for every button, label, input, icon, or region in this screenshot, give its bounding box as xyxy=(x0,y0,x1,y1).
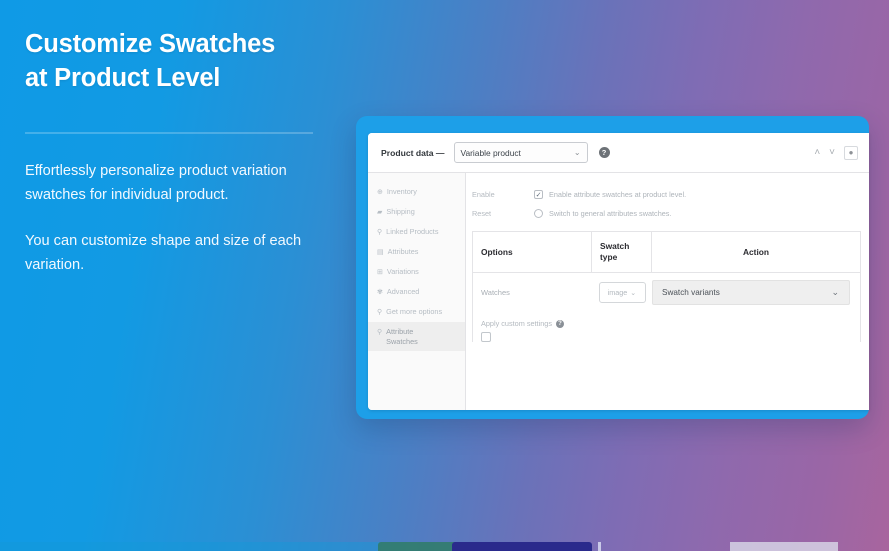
apply-custom-settings-block: Apply custom settings ? xyxy=(473,312,860,342)
inventory-icon: ⊕ xyxy=(377,188,383,197)
cell-action: Swatch variants ⌄ xyxy=(652,280,860,305)
swatch-type-value: image xyxy=(608,288,628,297)
divider xyxy=(25,132,313,134)
swatch-variants-button[interactable]: Swatch variants ⌄ xyxy=(652,280,850,305)
option-label: Reset xyxy=(472,209,534,218)
swatch-variants-label: Swatch variants xyxy=(662,288,720,297)
variations-icon: ⊞ xyxy=(377,268,383,277)
chevron-up-icon[interactable]: ˄ xyxy=(814,148,820,158)
screenshot-frame: Product data — Variable product ⌄ ? ˄ ˅ … xyxy=(356,116,869,419)
chevron-down-icon: ⌄ xyxy=(574,148,581,157)
column-header-options: Options xyxy=(473,232,592,272)
sidebar-item-attributes[interactable]: ▤ Attributes xyxy=(368,242,465,262)
help-icon[interactable]: ? xyxy=(556,320,564,328)
swatches-panel: Enable ✓ Enable attribute swatches at pr… xyxy=(466,173,869,410)
product-data-panel: Product data — Variable product ⌄ ? ˄ ˅ … xyxy=(368,133,869,410)
cell-option-name: Watches xyxy=(473,288,592,297)
link-icon: ⚲ xyxy=(377,228,382,237)
sidebar-item-label: Shipping xyxy=(386,207,414,217)
enable-checkbox[interactable]: ✓ xyxy=(534,190,543,199)
apply-custom-settings-line: Apply custom settings ? xyxy=(481,319,860,328)
option-row-enable: Enable ✓ Enable attribute swatches at pr… xyxy=(466,185,869,204)
option-description: Enable attribute swatches at product lev… xyxy=(549,190,686,199)
swatch-type-select[interactable]: image ⌄ xyxy=(599,282,646,303)
sidebar-item-attribute-swatches[interactable]: ⚲ Attribute Swatches xyxy=(368,322,465,351)
option-description: Switch to general attributes swatches. xyxy=(549,209,672,218)
toggle-panel-icon[interactable]: ● xyxy=(844,146,858,160)
plugin-icon: ⚲ xyxy=(377,308,382,317)
apply-custom-settings-label: Apply custom settings xyxy=(481,319,552,328)
sidebar-item-label: Advanced xyxy=(387,287,419,297)
sliver-navy-bar xyxy=(452,542,592,551)
swatches-table: Options Swatch type Action Watches image… xyxy=(472,231,861,342)
sidebar-item-label: Attribute Swatches xyxy=(386,327,418,346)
sidebar-item-get-more-options[interactable]: ⚲ Get more options xyxy=(368,302,465,322)
chevron-down-icon[interactable]: ˅ xyxy=(829,148,835,158)
sidebar-item-advanced[interactable]: ✾ Advanced xyxy=(368,282,465,302)
table-row: Watches image ⌄ Swatch variants xyxy=(473,273,860,312)
sidebar-item-variations[interactable]: ⊞ Variations xyxy=(368,262,465,282)
panel-body: ⊕ Inventory ▰ Shipping ⚲ Linked Products… xyxy=(368,173,869,410)
cell-swatch-type: image ⌄ xyxy=(592,282,652,303)
chevron-down-icon: ⌄ xyxy=(630,288,636,297)
bottom-cutoff-strip xyxy=(0,542,889,551)
product-type-select[interactable]: Variable product ⌄ xyxy=(454,142,588,163)
swatches-icon: ⚲ xyxy=(377,328,382,337)
sliver-tick xyxy=(598,542,601,551)
sidebar-item-inventory[interactable]: ⊕ Inventory xyxy=(368,182,465,202)
sidebar-item-label: Variations xyxy=(387,267,419,277)
sidebar-item-shipping[interactable]: ▰ Shipping xyxy=(368,202,465,222)
body-paragraph-2: You can customize shape and size of each… xyxy=(25,230,335,278)
sliver-blue-bar xyxy=(0,542,380,551)
option-label: Enable xyxy=(472,190,534,199)
sidebar-item-label: Inventory xyxy=(387,187,417,197)
help-icon[interactable]: ? xyxy=(599,147,610,158)
attributes-icon: ▤ xyxy=(377,248,384,257)
product-type-value: Variable product xyxy=(461,148,521,158)
sliver-light-bar xyxy=(730,542,838,551)
panel-title: Product data — xyxy=(381,148,445,158)
column-header-swatch-type: Swatch type xyxy=(592,232,652,272)
switch-radio[interactable] xyxy=(534,209,543,218)
sidebar-item-linked-products[interactable]: ⚲ Linked Products xyxy=(368,222,465,242)
panel-tabs: ⊕ Inventory ▰ Shipping ⚲ Linked Products… xyxy=(368,173,466,410)
gear-icon: ✾ xyxy=(377,288,383,297)
window-controls: ˄ ˅ ● xyxy=(814,146,858,160)
sidebar-item-label: Linked Products xyxy=(386,227,438,237)
left-copy-block: Customize Swatches at Product Level Effo… xyxy=(25,28,335,277)
table-header-row: Options Swatch type Action xyxy=(473,232,860,273)
sidebar-item-label: Attributes xyxy=(388,247,419,257)
body-paragraph-1: Effortlessly personalize product variati… xyxy=(25,160,335,208)
option-row-reset: Reset Switch to general attributes swatc… xyxy=(466,204,869,223)
panel-header: Product data — Variable product ⌄ ? ˄ ˅ … xyxy=(368,133,869,173)
column-header-action: Action xyxy=(652,242,860,262)
page-title: Customize Swatches at Product Level xyxy=(25,28,335,95)
apply-custom-settings-checkbox[interactable] xyxy=(481,332,491,342)
chevron-down-icon: ⌄ xyxy=(831,287,839,298)
shipping-icon: ▰ xyxy=(377,208,382,217)
sidebar-item-label: Get more options xyxy=(386,307,442,317)
slide-canvas: Customize Swatches at Product Level Effo… xyxy=(0,0,889,551)
